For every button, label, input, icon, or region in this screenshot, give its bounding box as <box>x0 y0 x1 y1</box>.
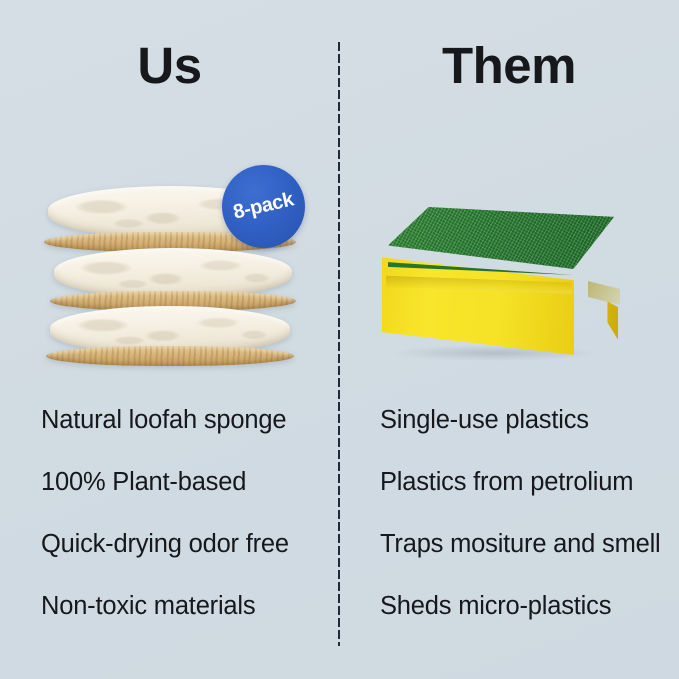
loofah-sponge-bottom <box>46 302 294 368</box>
feature-item: Non-toxic materials <box>41 590 331 652</box>
feature-item: 100% Plant-based <box>41 466 331 528</box>
feature-list-them: Single-use plastics Plastics from petrol… <box>380 404 672 652</box>
sponge-scrub-pad <box>388 207 614 269</box>
feature-item: Quick-drying odor free <box>41 528 331 590</box>
pack-count-badge: 8-pack <box>222 165 305 248</box>
comparison-infographic: Us Them 8-pack Natural loofah sponge <box>0 0 679 679</box>
loofah-fiber-layer <box>46 346 294 366</box>
sponge-side-face <box>570 261 618 357</box>
feature-item: Single-use plastics <box>380 404 672 466</box>
pack-count-badge-label: 8-pack <box>231 188 296 224</box>
feature-list-us: Natural loofah sponge 100% Plant-based Q… <box>41 404 331 652</box>
column-heading-us: Us <box>0 36 339 96</box>
plastic-sponge-image <box>382 207 622 355</box>
column-divider <box>338 42 340 646</box>
feature-item: Natural loofah sponge <box>41 404 331 466</box>
feature-item: Traps mositure and smell <box>380 528 672 590</box>
feature-item: Sheds micro-plastics <box>380 590 672 652</box>
column-heading-them: Them <box>339 36 679 96</box>
feature-item: Plastics from petrolium <box>380 466 672 528</box>
